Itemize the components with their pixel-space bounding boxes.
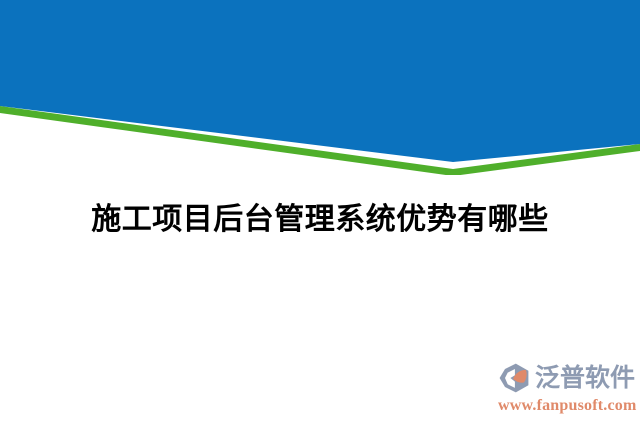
header-banner	[0, 0, 640, 175]
header-banner-graphic	[0, 0, 640, 175]
brand-wordmark: 泛普软件	[535, 363, 635, 393]
fanpu-logo-icon	[496, 360, 532, 396]
brand-url: www.fanpusoft.com	[498, 396, 637, 416]
banner-blue-body	[0, 0, 640, 162]
brand-logo-row: 泛普软件	[496, 358, 635, 398]
brand-watermark: 泛普软件 www.fanpusoft.com	[496, 358, 634, 422]
page-title: 施工项目后台管理系统优势有哪些	[91, 198, 549, 242]
page-title-area: 施工项目后台管理系统优势有哪些	[0, 190, 640, 250]
slide-canvas: 施工项目后台管理系统优势有哪些 泛普软件 www.fanpusoft.com	[0, 0, 640, 427]
